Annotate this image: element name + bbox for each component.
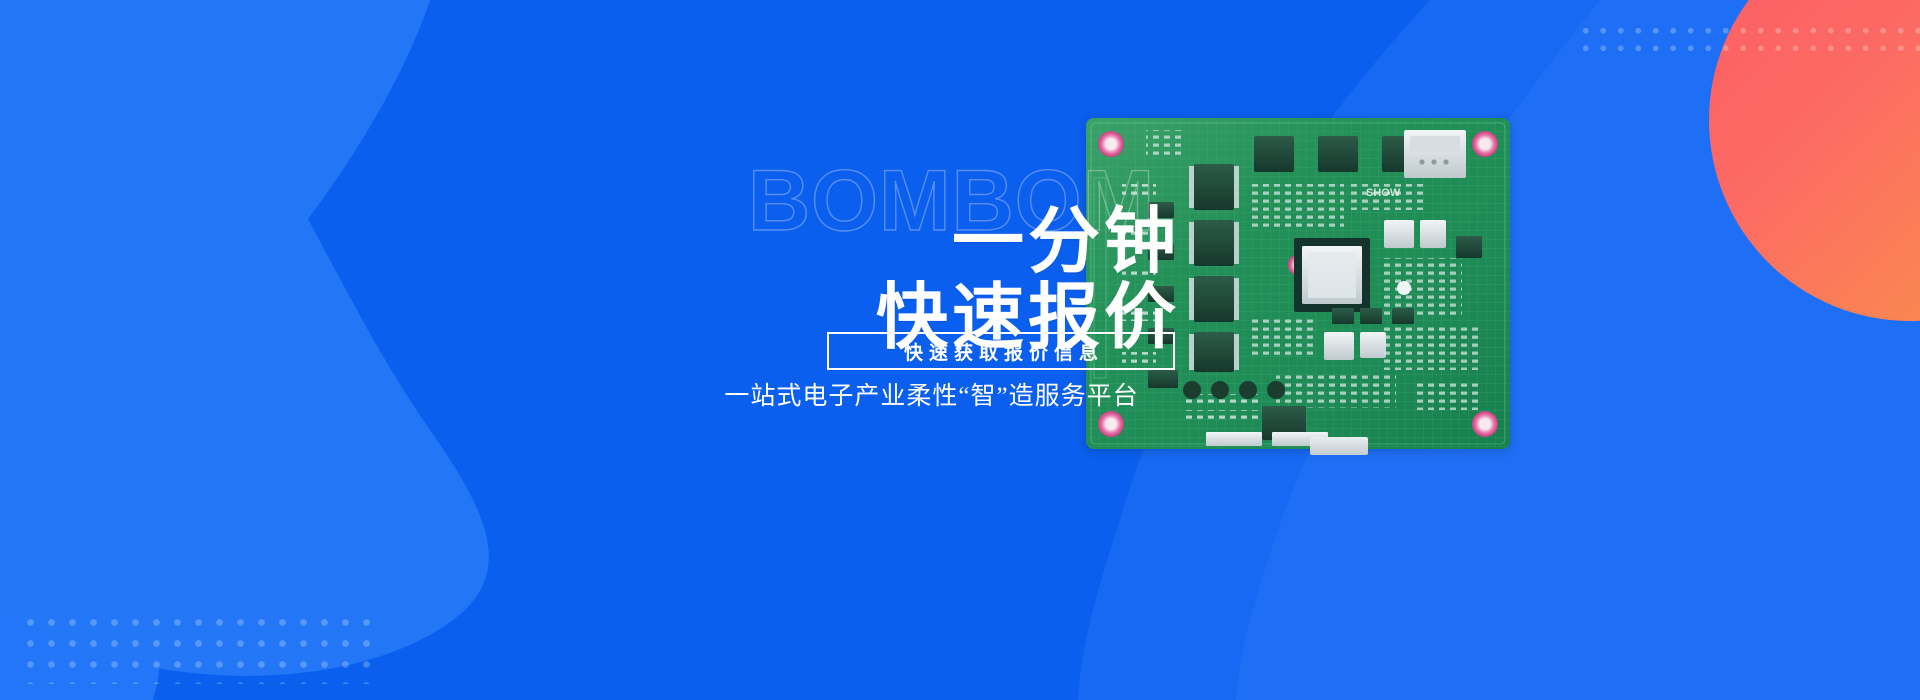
get-quote-button-label: 快速获取报价信息 [898,338,1104,365]
promo-banner: SHOW BOMBOM 一分钟 快速报价 快速获取报 [0,0,1920,700]
pcb-bottom-tab [1310,437,1368,455]
get-quote-button[interactable]: 快速获取报价信息 [827,332,1175,370]
hero-subtitle: 一站式电子产业柔性“智”造服务平台 [683,382,1180,412]
dot-grid-top-right-icon [1577,22,1920,56]
dot-grid-bottom-left-icon [20,612,380,684]
headline-line-1: 一分钟 [660,205,1180,279]
headline-group: 一分钟 快速报价 [660,150,1180,355]
hero-copy-block: BOMBOM 一分钟 快速报价 快速获取报价信息 一站式电子产业柔性“智”造服务… [660,150,1180,440]
pcb-card-socket [1404,130,1466,178]
pcb-main-processor [1294,238,1370,312]
pcb-top-chips [1254,136,1422,172]
pcb-silkscreen-label: SHOW [1366,187,1401,199]
